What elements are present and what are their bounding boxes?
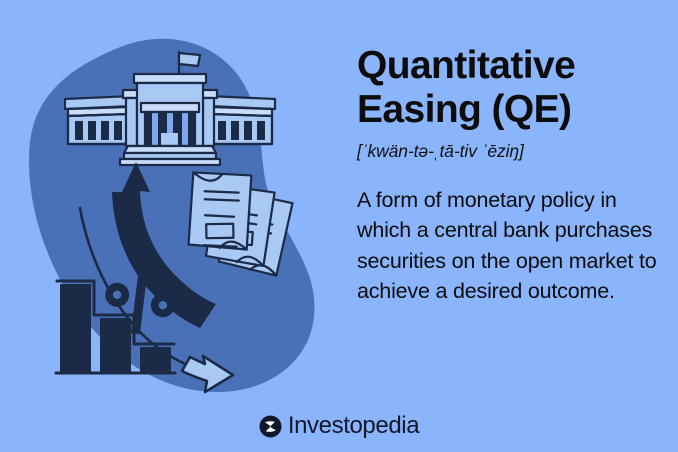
illustration: [0, 0, 340, 410]
brand-name: Investopedia: [288, 414, 419, 438]
term-definition: A form of monetary policy in which a cen…: [357, 185, 669, 307]
brand-footer: Investopedia: [0, 414, 678, 438]
investopedia-swoosh-icon: [259, 415, 282, 438]
term-pronunciation: [ˈkwän-tə-ˌtā-tiv ˈēziŋ]: [357, 141, 669, 162]
term-title-line-2: Easing (QE): [357, 88, 571, 131]
definition-card: Quantitative Easing (QE) [ˈkwän-tə-ˌtā-t…: [0, 0, 678, 452]
text-column: Quantitative Easing (QE) [ˈkwän-tə-ˌtā-t…: [357, 44, 669, 307]
page-title: Quantitative Easing (QE): [357, 44, 669, 133]
term-title-line-1: Quantitative: [357, 44, 575, 87]
